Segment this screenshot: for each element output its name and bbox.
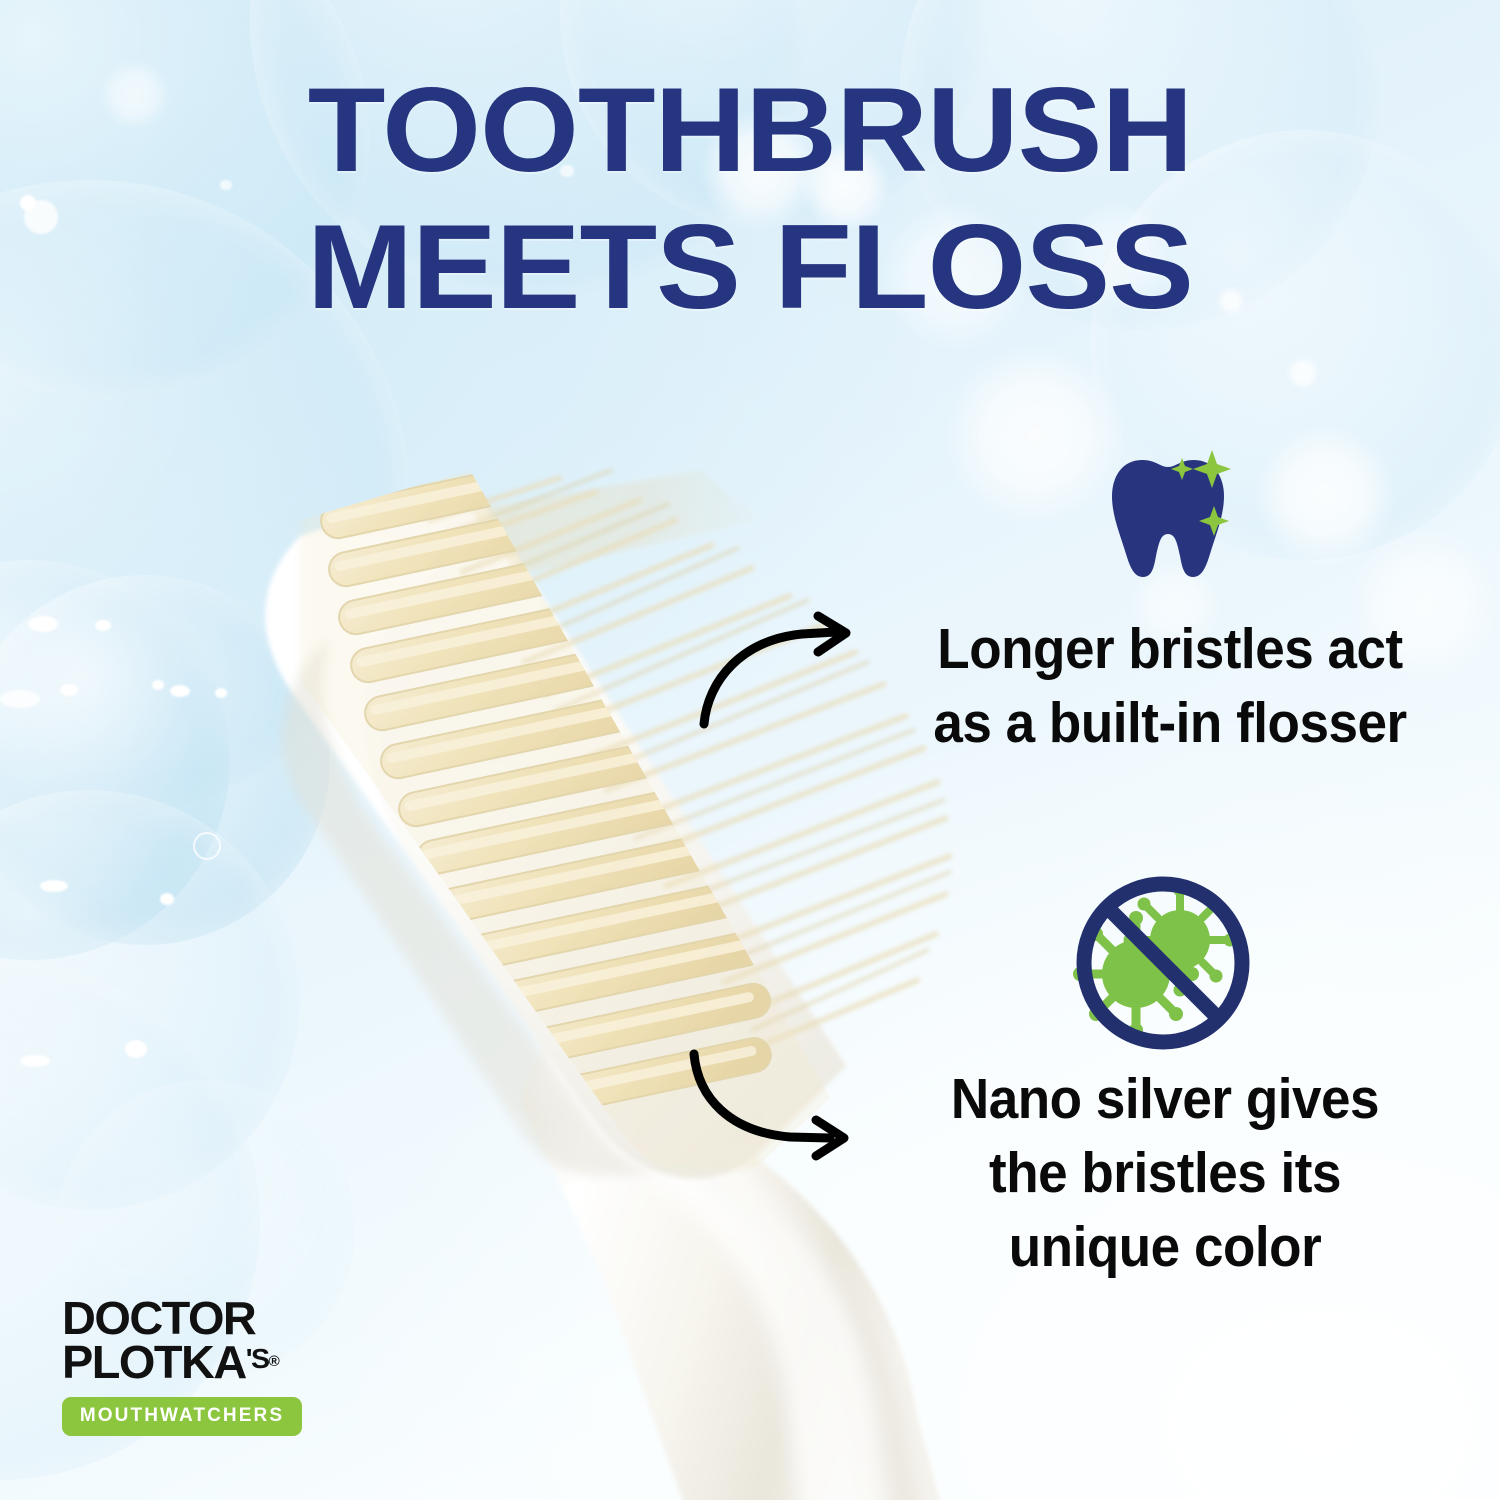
sparkle-dot bbox=[1290, 360, 1316, 386]
bubble-outline bbox=[193, 832, 221, 860]
logo-line-plotkas: PLOTKA'S® bbox=[62, 1340, 327, 1384]
sparkle-dot bbox=[152, 680, 164, 690]
logo-apostrophe-s: 'S bbox=[246, 1343, 269, 1374]
sparkle-dot bbox=[125, 1040, 147, 1058]
logo-line-doctor: DOCTOR bbox=[62, 1296, 327, 1340]
registered-trademark-icon: ® bbox=[269, 1353, 280, 1370]
mouthwatchers-badge: MOUTHWATCHERS bbox=[62, 1397, 302, 1436]
sparkle-dot bbox=[95, 620, 111, 631]
mouthwatchers-label: MOUTHWATCHERS bbox=[68, 1405, 296, 1427]
no-germs-icon bbox=[1068, 868, 1258, 1058]
bubble bbox=[0, 790, 300, 1210]
product-infographic: TOOTHBRUSH MEETS FLOSS bbox=[0, 0, 1500, 1500]
sparkle-dot bbox=[170, 685, 190, 697]
brand-logo: DOCTOR PLOTKA'S® MOUTHWATCHERS bbox=[62, 1296, 322, 1436]
sparkle-dot bbox=[0, 690, 40, 708]
tooth-sparkle-icon bbox=[1098, 430, 1278, 590]
sparkle-dot bbox=[40, 880, 68, 892]
sparkle-dot bbox=[28, 616, 58, 632]
curved-arrow-up-right-icon bbox=[690, 608, 870, 738]
bubble bbox=[0, 560, 230, 960]
page-title: TOOTHBRUSH MEETS FLOSS bbox=[0, 62, 1500, 336]
bubble bbox=[0, 575, 330, 945]
sparkle-dot bbox=[60, 684, 78, 696]
sparkle-dot bbox=[20, 1055, 50, 1067]
logo-plotka-text: PLOTKA bbox=[62, 1336, 246, 1388]
sparkle-dot bbox=[215, 688, 227, 698]
feature-text-nano-silver: Nano silver gives the bristles its uniqu… bbox=[900, 1062, 1430, 1284]
curved-arrow-down-right-icon bbox=[672, 1048, 872, 1188]
sparkle-dot bbox=[160, 893, 174, 905]
feature-text-longer-bristles: Longer bristles act as a built-in flosse… bbox=[882, 612, 1459, 760]
